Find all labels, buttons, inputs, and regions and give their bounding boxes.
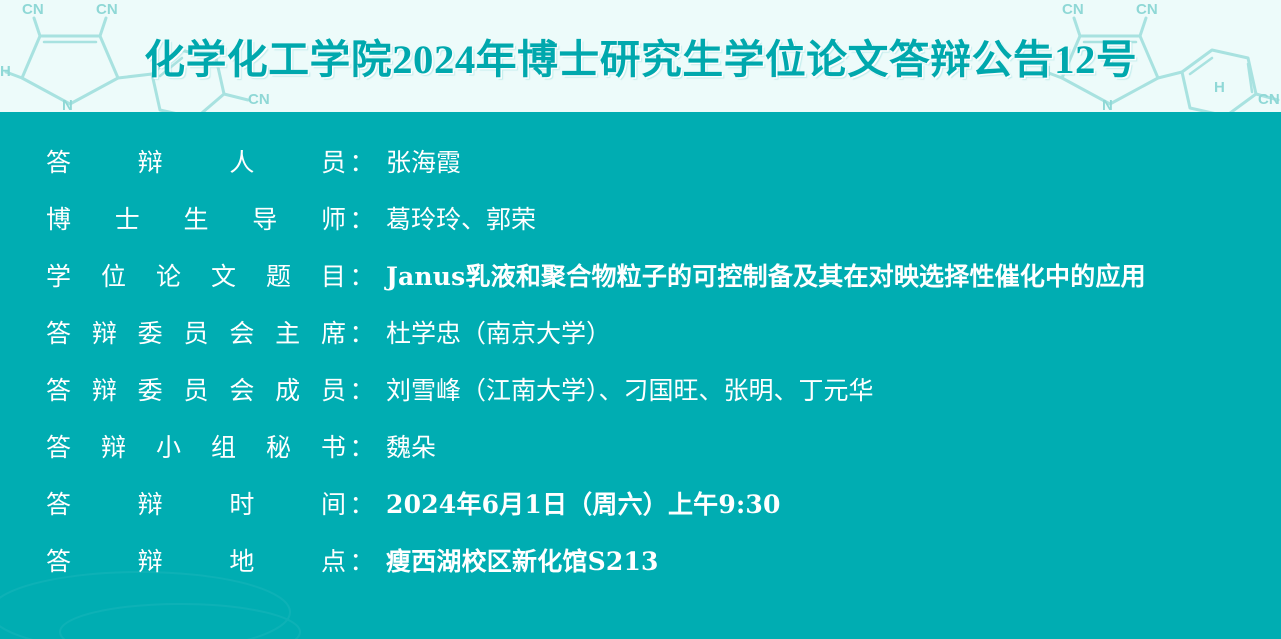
field-colon: ：: [346, 319, 378, 349]
field-label-thesis-title: 学 位 论 文 题 目: [46, 262, 346, 292]
field-row-supervisor: 博 士 生 导 师 ： 葛玲玲、郭荣: [0, 205, 1281, 262]
field-value-committee-members: 刘雪峰（江南大学）、刁国旺、张明、丁元华: [378, 376, 874, 406]
field-row-committee-members: 答 辩 委 员 会 成 员 ： 刘雪峰（江南大学）、刁国旺、张明、丁元华: [0, 376, 1281, 433]
field-label-defense-location: 答 辩 地 点: [46, 547, 346, 577]
field-row-secretary: 答 辩 小 组 秘 书 ： 魏朵: [0, 433, 1281, 490]
field-value-committee-chair: 杜学忠（南京大学）: [378, 319, 611, 349]
field-row-defender: 答 辩 人 员 ： 张海霞: [0, 148, 1281, 205]
field-label-committee-chair: 答 辩 委 员 会 主 席: [46, 319, 346, 349]
field-row-thesis-title: 学 位 论 文 题 目 ： Janus乳液和聚合物粒子的可控制备及其在对映选择性…: [0, 262, 1281, 319]
field-value-defense-time: 2024年6月1日（周六）上午9:30: [378, 490, 781, 520]
field-label-defense-time: 答 辩 时 间: [46, 490, 346, 520]
field-colon: ：: [346, 148, 378, 178]
field-row-defense-location: 答 辩 地 点 ： 瘦西湖校区新化馆S213: [0, 547, 1281, 604]
field-value-supervisor: 葛玲玲、郭荣: [378, 205, 536, 235]
field-row-defense-time: 答 辩 时 间 ： 2024年6月1日（周六）上午9:30: [0, 490, 1281, 547]
field-label-secretary: 答 辩 小 组 秘 书: [46, 433, 346, 463]
field-value-defender: 张海霞: [378, 148, 461, 178]
field-row-committee-chair: 答 辩 委 员 会 主 席 ： 杜学忠（南京大学）: [0, 319, 1281, 376]
field-label-supervisor: 博 士 生 导 师: [46, 205, 346, 235]
page-title: 化学化工学院2024年博士研究生学位论文答辩公告12号: [144, 27, 1137, 85]
field-label-defender: 答 辩 人 员: [46, 148, 346, 178]
announcement-field-list: 答 辩 人 员 ： 张海霞 博 士 生 导 师 ： 葛玲玲、郭荣: [0, 112, 1281, 604]
field-colon: ：: [346, 205, 378, 235]
field-value-secretary: 魏朵: [378, 433, 436, 463]
field-colon: ：: [346, 433, 378, 463]
page-title-container: 化学化工学院2024年博士研究生学位论文答辩公告12号: [0, 0, 1281, 112]
field-label-committee-members: 答 辩 委 员 会 成 员: [46, 376, 346, 406]
defense-announcement-poster: CN CN H N CN CN: [0, 0, 1281, 639]
field-value-thesis-title: Janus乳液和聚合物粒子的可控制备及其在对映选择性催化中的应用: [378, 262, 1146, 292]
field-colon: ：: [346, 490, 378, 520]
field-value-defense-location: 瘦西湖校区新化馆S213: [378, 547, 659, 577]
field-colon: ：: [346, 376, 378, 406]
field-colon: ：: [346, 547, 378, 577]
poster-body: 答 辩 人 员 ： 张海霞 博 士 生 导 师 ： 葛玲玲、郭荣: [0, 112, 1281, 639]
poster-header: CN CN H N CN CN: [0, 0, 1281, 112]
field-colon: ：: [346, 262, 378, 292]
